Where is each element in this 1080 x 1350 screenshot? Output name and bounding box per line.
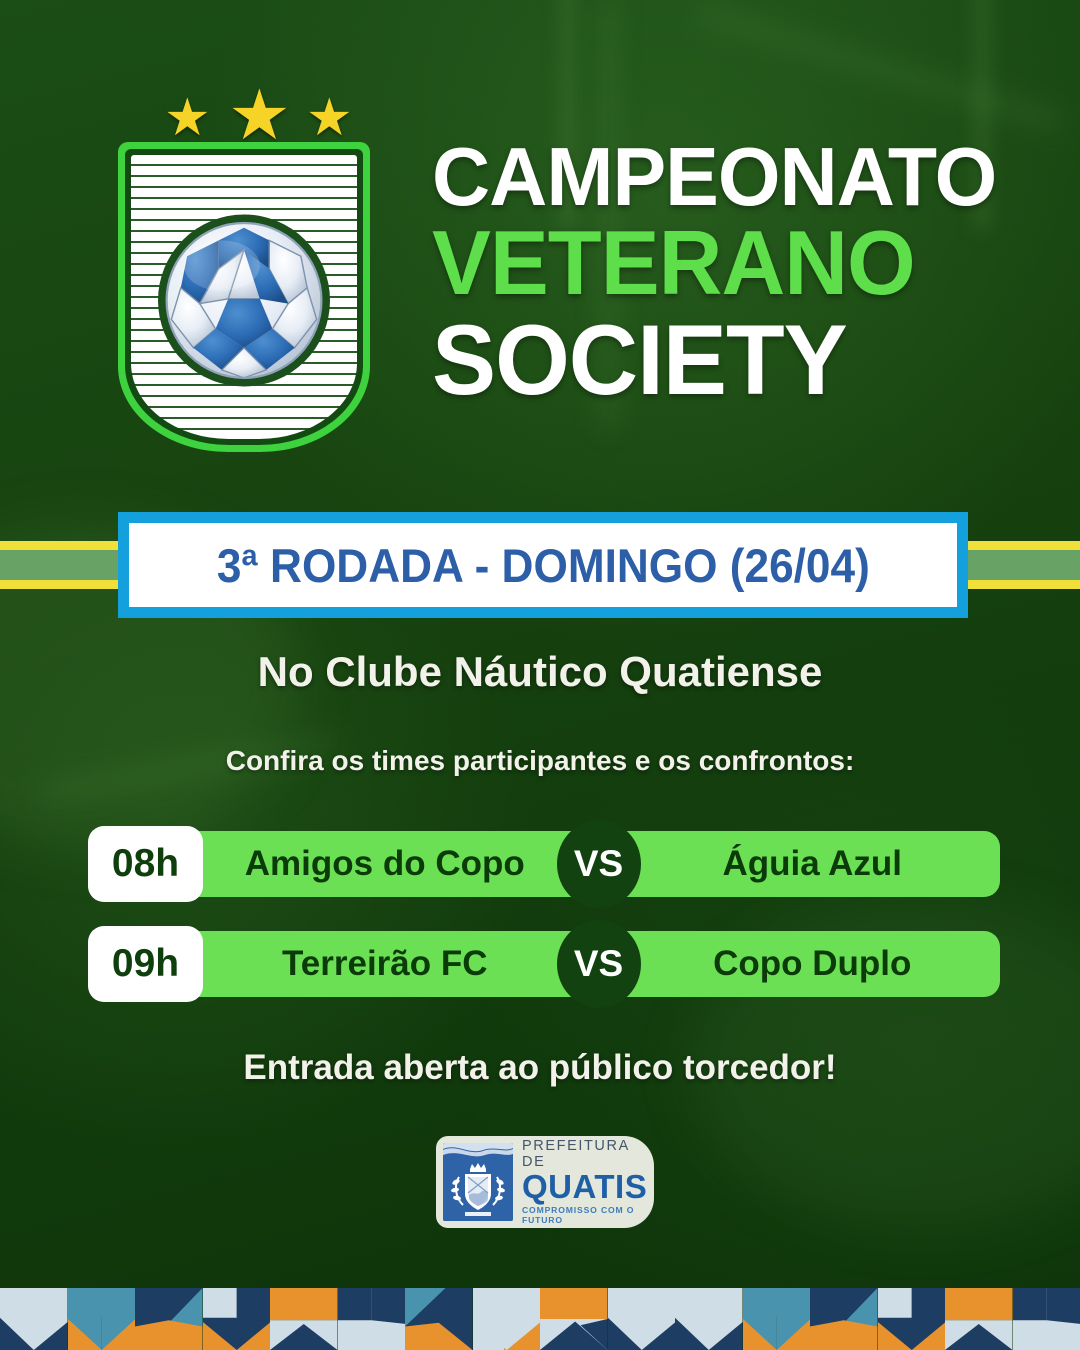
pattern-tile bbox=[743, 1288, 811, 1350]
crest-shield bbox=[118, 142, 370, 452]
match-away-team: Copo Duplo bbox=[599, 944, 1001, 984]
gov-logo-line2: QUATIS bbox=[522, 1170, 647, 1203]
table-row: 09h Terreirão FC VS Copo Duplo bbox=[88, 926, 1000, 1002]
venue-text: No Clube Náutico Quatiense bbox=[0, 648, 1080, 696]
gov-logo-line3: COMPROMISSO COM O FUTURO bbox=[522, 1205, 647, 1225]
page-title: CAMPEONATO VETERANO SOCIETY bbox=[432, 136, 992, 408]
pattern-tile bbox=[68, 1288, 136, 1350]
pattern-tile bbox=[203, 1288, 271, 1350]
round-date-banner-inner: 3ª RODADA - DOMINGO (26/04) bbox=[129, 523, 957, 607]
pattern-tile bbox=[608, 1288, 676, 1350]
pattern-tile bbox=[540, 1288, 608, 1350]
poster-root: ★ ★ ★ bbox=[0, 0, 1080, 1350]
round-date-text: 3ª RODADA - DOMINGO (26/04) bbox=[217, 538, 870, 593]
pattern-tile bbox=[473, 1288, 541, 1350]
pattern-tile bbox=[135, 1288, 203, 1350]
background-pitch-line-diagonal bbox=[696, 5, 1064, 131]
star-icon-right: ★ bbox=[306, 92, 353, 144]
gov-logo-text: PREFEITURA DE QUATIS COMPROMISSO COM O F… bbox=[522, 1139, 647, 1226]
pattern-tile bbox=[0, 1288, 68, 1350]
instruction-text: Confira os times participantes e os conf… bbox=[0, 745, 1080, 777]
pattern-tile bbox=[1013, 1288, 1080, 1350]
match-bar: Terreirão FC VS Copo Duplo bbox=[197, 931, 1000, 997]
crest-shield-stripes bbox=[131, 155, 357, 439]
entry-note-text: Entrada aberta ao público torcedor! bbox=[0, 1048, 1080, 1088]
title-line-campeonato: CAMPEONATO bbox=[432, 136, 975, 217]
pattern-tile bbox=[945, 1288, 1013, 1350]
pattern-tile bbox=[810, 1288, 878, 1350]
crest-shield-inner bbox=[125, 149, 363, 445]
pattern-tile bbox=[878, 1288, 946, 1350]
pattern-tile bbox=[405, 1288, 473, 1350]
star-icon-left: ★ bbox=[164, 92, 211, 144]
match-time-chip: 09h bbox=[88, 926, 203, 1002]
match-home-team: Terreirão FC bbox=[197, 944, 599, 984]
championship-crest: ★ ★ ★ bbox=[112, 80, 377, 460]
prefeitura-quatis-logo: PREFEITURA DE QUATIS COMPROMISSO COM O F… bbox=[436, 1136, 654, 1228]
decorative-bottom-pattern bbox=[0, 1288, 1080, 1350]
title-line-veterano: VETERANO bbox=[432, 219, 975, 308]
crest-stars: ★ ★ ★ bbox=[134, 80, 359, 142]
pattern-tile bbox=[675, 1288, 743, 1350]
title-line-society: SOCIETY bbox=[432, 311, 975, 408]
match-home-team: Amigos do Copo bbox=[197, 844, 599, 884]
pattern-tile bbox=[338, 1288, 406, 1350]
pattern-tile bbox=[270, 1288, 338, 1350]
soccer-ball-icon bbox=[158, 214, 330, 386]
vs-badge: VS bbox=[557, 820, 641, 908]
round-date-banner: 3ª RODADA - DOMINGO (26/04) bbox=[118, 512, 968, 618]
coat-of-arms-icon bbox=[443, 1143, 513, 1221]
table-row: 08h Amigos do Copo VS Águia Azul bbox=[88, 826, 1000, 902]
match-away-team: Águia Azul bbox=[599, 844, 1001, 884]
vs-badge: VS bbox=[557, 920, 641, 1008]
match-list: 08h Amigos do Copo VS Águia Azul 09h Ter… bbox=[88, 826, 1000, 1026]
star-icon-center: ★ bbox=[228, 80, 291, 150]
match-bar: Amigos do Copo VS Águia Azul bbox=[197, 831, 1000, 897]
gov-logo-line1: PREFEITURA DE bbox=[522, 1139, 647, 1171]
match-time-chip: 08h bbox=[88, 826, 203, 902]
